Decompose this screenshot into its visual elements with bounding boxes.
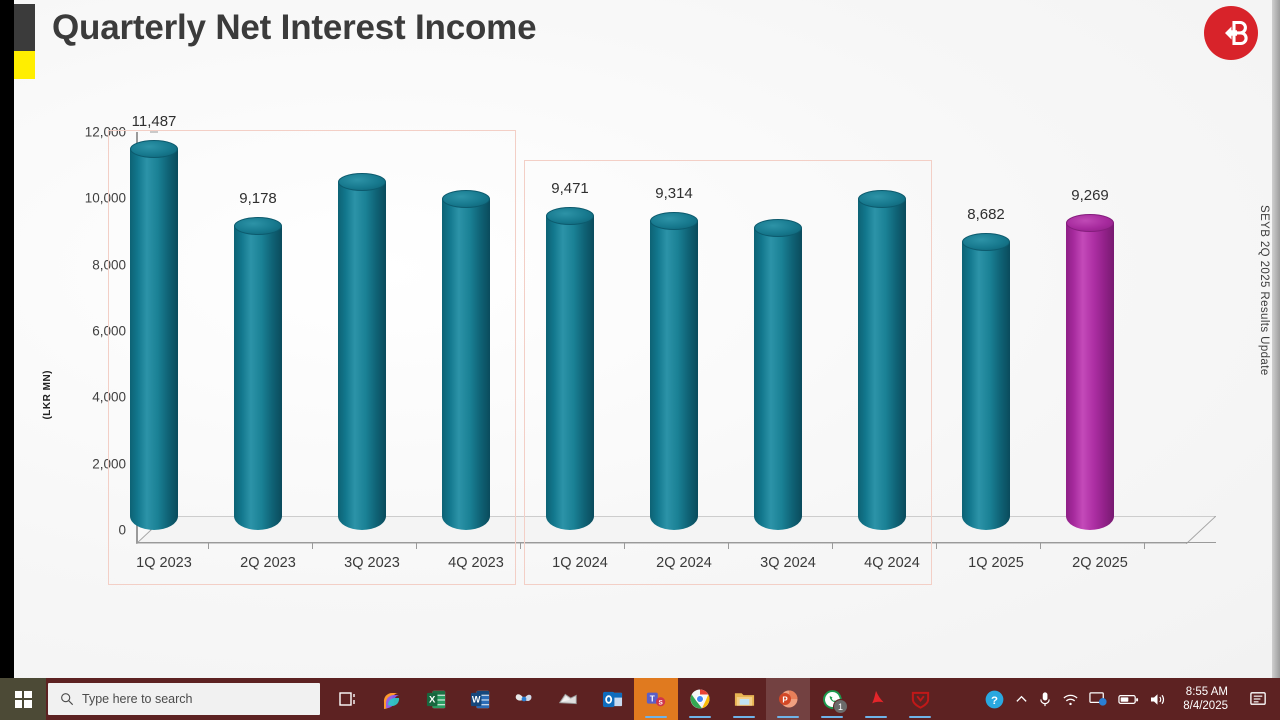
- taskbar-item-file-explorer[interactable]: [722, 678, 766, 720]
- bar-top-ellipse: [858, 190, 906, 208]
- bar-body: [546, 216, 594, 530]
- bar-top-ellipse: [442, 190, 490, 208]
- y-axis-ticks: 02,0004,0006,0008,00010,00012,000: [58, 112, 126, 532]
- y-axis-tick-label: 12,000: [66, 125, 126, 140]
- bar[interactable]: [754, 228, 802, 530]
- taskbar-item-chrome[interactable]: [678, 678, 722, 720]
- bar[interactable]: 8,682: [962, 242, 1010, 530]
- x-axis-line: [136, 542, 1216, 543]
- bar-value-label: 11,487: [132, 113, 177, 130]
- taskbar-item-excel[interactable]: X: [414, 678, 458, 720]
- title-accent-dark: [14, 4, 35, 51]
- search-input[interactable]: Type here to search: [48, 683, 320, 715]
- svg-text:T: T: [650, 694, 655, 703]
- y-axis-tick-label: 0: [66, 523, 126, 538]
- bar-top-ellipse: [234, 217, 282, 235]
- taskbar-running-indicator: [689, 716, 711, 719]
- screen: Quarterly Net Interest Income SEYB 2Q 20…: [0, 0, 1280, 720]
- taskbar-running-indicator: [733, 716, 755, 719]
- x-axis-category-label: 3Q 2023: [344, 555, 400, 571]
- title-accent-yellow: [14, 51, 35, 79]
- x-axis-category-label: 4Q 2023: [448, 555, 504, 571]
- x-axis-tick-mark: [416, 542, 417, 549]
- x-axis-tick-mark: [832, 542, 833, 549]
- display-settings-icon[interactable]: [1089, 691, 1108, 707]
- svg-text:S: S: [658, 700, 663, 707]
- bar[interactable]: 9,314: [650, 221, 698, 530]
- x-axis-tick-mark: [936, 542, 937, 549]
- x-axis-tick-mark: [312, 542, 313, 549]
- taskbar-running-indicator: [821, 716, 843, 719]
- svg-text:?: ?: [991, 694, 998, 706]
- y-axis-tick-label: 4,000: [66, 390, 126, 405]
- taskbar-app-icons: X W: [326, 678, 942, 720]
- photos-icon: [513, 689, 535, 709]
- bar[interactable]: 9,178: [234, 226, 282, 530]
- clock-date: 8/4/2025: [1183, 699, 1228, 713]
- bar-chart: (LKR MN) 02,0004,0006,0008,00010,00012,0…: [36, 112, 1231, 612]
- bar-value-label: 9,314: [655, 185, 693, 202]
- excel-icon: X: [426, 689, 447, 710]
- taskbar-item-acrobat[interactable]: [854, 678, 898, 720]
- word-icon: W: [470, 689, 491, 710]
- taskbar-item-photos[interactable]: [502, 678, 546, 720]
- bar-top-ellipse: [650, 212, 698, 230]
- microphone-icon[interactable]: [1038, 691, 1052, 708]
- x-axis-category-label: 2Q 2025: [1072, 555, 1128, 571]
- x-axis-tick-mark: [520, 542, 521, 549]
- y-axis-tick-label: 8,000: [66, 257, 126, 272]
- show-hidden-icons-chevron-up-icon[interactable]: [1015, 693, 1028, 706]
- battery-icon[interactable]: [1118, 693, 1139, 706]
- bar-value-label: 9,178: [239, 190, 277, 207]
- taskbar-item-paint[interactable]: [546, 678, 590, 720]
- page-title: Quarterly Net Interest Income: [52, 8, 536, 48]
- x-axis-category-label: 2Q 2024: [656, 555, 712, 571]
- bar-top-ellipse: [130, 140, 178, 158]
- taskbar-item-outlook[interactable]: [590, 678, 634, 720]
- copilot-icon: [381, 688, 403, 710]
- volume-icon[interactable]: [1149, 692, 1167, 707]
- bar[interactable]: [858, 199, 906, 530]
- taskbar-item-powerpoint[interactable]: P: [766, 678, 810, 720]
- bar[interactable]: 9,471: [546, 216, 594, 530]
- x-axis-category-label: 1Q 2025: [968, 555, 1024, 571]
- bar-value-label: 9,471: [551, 180, 589, 197]
- paint-icon: [557, 689, 579, 709]
- bar-value-label: 8,682: [967, 206, 1005, 223]
- whatsapp-notification-badge: 1: [833, 699, 848, 714]
- taskbar-item-teams[interactable]: T S: [634, 678, 678, 720]
- bar-body: [858, 199, 906, 530]
- taskbar-item-task-view[interactable]: [326, 678, 370, 720]
- slide-side-caption: SEYB 2Q 2025 Results Update: [1258, 205, 1270, 376]
- taskbar-item-copilot[interactable]: [370, 678, 414, 720]
- mcafee-icon: [910, 689, 931, 710]
- x-axis-tick-mark: [624, 542, 625, 549]
- search-icon: [60, 692, 74, 706]
- task-view-icon: [338, 689, 358, 709]
- svg-text:W: W: [471, 694, 480, 704]
- taskbar-running-indicator: [909, 716, 931, 719]
- windows-taskbar: Type here to search: [0, 678, 1280, 720]
- system-tray: ?: [984, 678, 1280, 720]
- clock-time: 8:55 AM: [1183, 685, 1228, 699]
- x-axis-category-label: 4Q 2024: [864, 555, 920, 571]
- bar-top-ellipse: [338, 173, 386, 191]
- chrome-icon: [689, 688, 711, 710]
- x-axis-tick-mark: [208, 542, 209, 549]
- svg-text:P: P: [782, 696, 788, 705]
- bar-body: [338, 182, 386, 530]
- notification-center-icon[interactable]: [1244, 690, 1272, 708]
- bar[interactable]: 9,269: [1066, 223, 1114, 530]
- y-axis-title: (LKR MN): [42, 370, 53, 420]
- taskbar-running-indicator: [777, 716, 799, 719]
- bar-body: [234, 226, 282, 530]
- bar[interactable]: 11,487: [130, 149, 178, 530]
- help-icon[interactable]: ?: [984, 689, 1005, 710]
- taskbar-running-indicator: [645, 716, 667, 719]
- bar-body: [754, 228, 802, 530]
- bar-body: [962, 242, 1010, 530]
- y-axis-tick-label: 6,000: [66, 324, 126, 339]
- bar-top-ellipse: [962, 233, 1010, 251]
- taskbar-item-word[interactable]: W: [458, 678, 502, 720]
- x-axis-category-label: 3Q 2024: [760, 555, 816, 571]
- company-logo: [1204, 6, 1258, 60]
- acrobat-icon: [866, 689, 886, 710]
- y-axis-tick-label: 2,000: [66, 456, 126, 471]
- file-explorer-icon: [733, 689, 756, 709]
- bar[interactable]: [442, 199, 490, 530]
- outlook-icon: [602, 689, 623, 710]
- start-button[interactable]: [0, 678, 46, 720]
- bar-body: [1066, 223, 1114, 530]
- presentation-slide: Quarterly Net Interest Income SEYB 2Q 20…: [0, 0, 1280, 678]
- x-axis-tick-mark: [1144, 542, 1145, 549]
- bar-body: [442, 199, 490, 530]
- x-axis-category-label: 2Q 2023: [240, 555, 296, 571]
- x-axis-tick-mark: [1040, 542, 1041, 549]
- svg-text:X: X: [429, 694, 436, 705]
- y-axis-tick-label: 10,000: [66, 191, 126, 206]
- taskbar-running-indicator: [865, 716, 887, 719]
- x-axis-category-label: 1Q 2023: [136, 555, 192, 571]
- y-axis-tick-mark: [150, 132, 158, 133]
- taskbar-item-whatsapp[interactable]: 1: [810, 678, 854, 720]
- clock[interactable]: 8:55 AM 8/4/2025: [1177, 685, 1234, 713]
- powerpoint-icon: P: [777, 688, 799, 710]
- bar-top-ellipse: [546, 207, 594, 225]
- bar-value-label: 9,269: [1071, 187, 1109, 204]
- bar-body: [130, 149, 178, 530]
- bar-body: [650, 221, 698, 530]
- teams-icon: T S: [645, 689, 667, 709]
- bar[interactable]: [338, 182, 386, 530]
- taskbar-item-mcafee[interactable]: [898, 678, 942, 720]
- windows-logo-icon: [15, 691, 32, 708]
- search-placeholder-text: Type here to search: [82, 692, 192, 706]
- bar-top-ellipse: [1066, 214, 1114, 232]
- x-axis-category-label: 1Q 2024: [552, 555, 608, 571]
- x-axis-tick-mark: [728, 542, 729, 549]
- wifi-icon[interactable]: [1062, 692, 1079, 707]
